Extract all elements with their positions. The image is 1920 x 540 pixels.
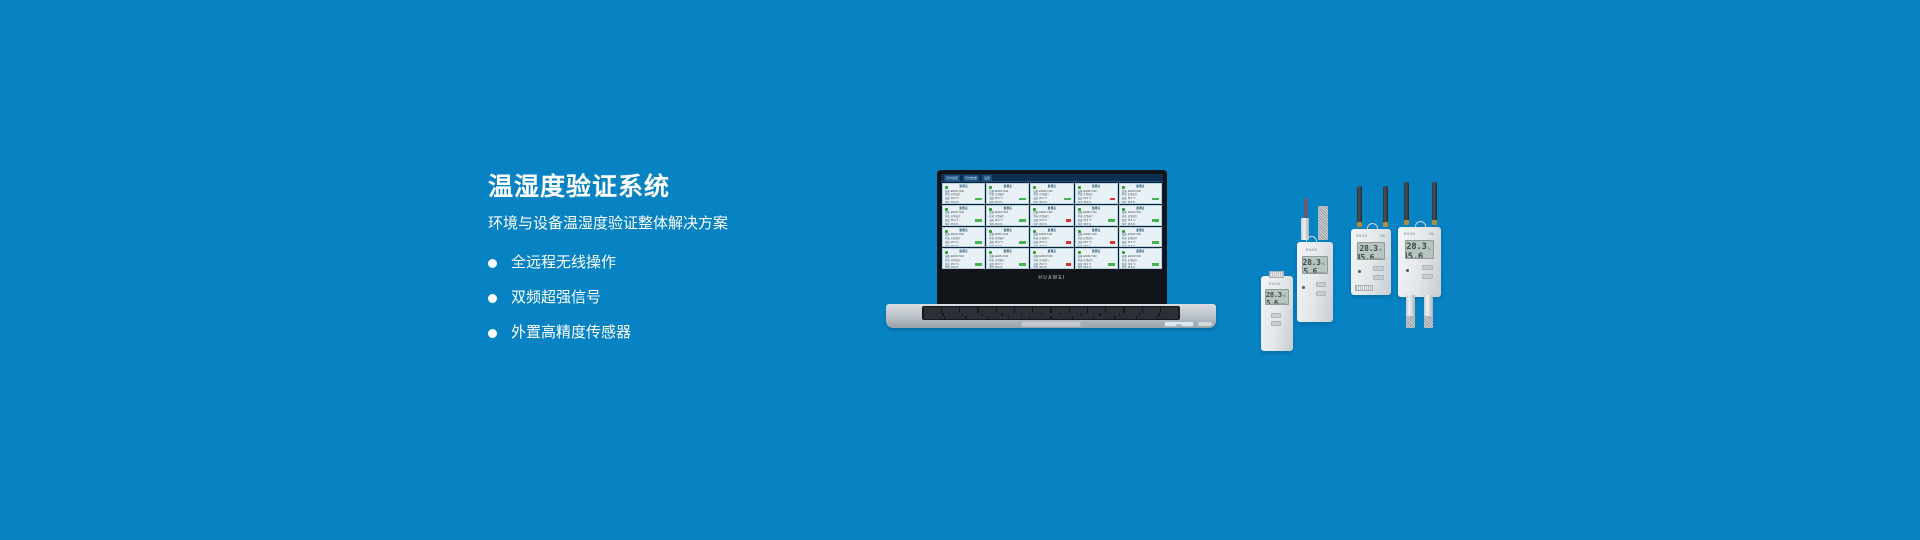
card-row-value: 45.6 % xyxy=(1128,201,1159,204)
sensor-vent-icon xyxy=(1269,271,1284,278)
status-badge xyxy=(975,241,982,244)
card-row: 温度25.3 ℃ xyxy=(1078,263,1115,266)
card-title: 监测点 xyxy=(1078,250,1115,254)
card-row: 设备ENON-T100 xyxy=(1078,211,1115,214)
card-row: 状态正常运行 xyxy=(1122,259,1159,262)
card-row-value: 25.3 ℃ xyxy=(995,263,1018,266)
card-row: 温度25.3 ℃ xyxy=(989,241,1026,244)
card-row-value: 正常运行 xyxy=(995,215,1026,218)
card-row: 状态正常运行 xyxy=(1033,237,1070,240)
card-row: 设备ENON-T100 xyxy=(989,211,1026,214)
card-row: 状态正常运行 xyxy=(989,215,1026,218)
temperature-unit: ℃ xyxy=(1428,247,1431,252)
card-title: 监测点 xyxy=(1078,207,1115,211)
probe-cable xyxy=(1305,198,1307,220)
card-row: 设备ENON-T100 xyxy=(1033,211,1070,214)
temperature-unit: ℃ xyxy=(1322,262,1325,267)
card-row-key: 温度 xyxy=(1078,241,1083,244)
list-item: 双频超强信号 xyxy=(488,289,818,307)
card-row-value: 正常运行 xyxy=(951,193,982,196)
card-row-value: 正常运行 xyxy=(1039,259,1070,262)
card-row-key: 状态 xyxy=(1122,259,1127,262)
card-row-value: ENON-T100 xyxy=(1083,233,1114,236)
card-row-value: 25.3 ℃ xyxy=(1083,241,1108,244)
card-row: 湿度45.6 % xyxy=(1122,223,1159,226)
card-row-key: 湿度 xyxy=(945,245,950,248)
card-title: 监测点 xyxy=(945,185,982,189)
card-row: 温度25.3 ℃ xyxy=(1122,219,1159,222)
card-row-value: 25.3 ℃ xyxy=(951,197,974,200)
card-row-value: 45.6 % xyxy=(1128,223,1159,226)
bullet-icon xyxy=(488,259,497,268)
card-row: 湿度45.6 % xyxy=(989,245,1026,248)
dashboard-topbar: 实时监控 历史数据 设置 xyxy=(941,174,1163,182)
card-row-value: 45.6 % xyxy=(1128,245,1159,248)
card-row-value: 正常运行 xyxy=(951,215,982,218)
card-row: 设备ENON-T100 xyxy=(945,211,982,214)
status-badge xyxy=(1019,219,1026,222)
card-row: 状态正常运行 xyxy=(1078,193,1115,196)
card-status-dot-icon xyxy=(1033,208,1036,211)
card-row-value: ENON-T100 xyxy=(1039,255,1070,258)
card-row-value: ENON-T100 xyxy=(1128,190,1159,193)
card-row: 湿度45.6 % xyxy=(1033,201,1070,204)
card-row: 设备ENON-T100 xyxy=(945,255,982,258)
card-row-key: 设备 xyxy=(1122,233,1127,236)
card-row-value: 45.6 % xyxy=(951,201,982,204)
dashboard-card[interactable]: 监测点设备ENON-T100状态正常运行温度25.3 ℃湿度45.6 %时间12… xyxy=(942,183,985,204)
card-title: 监测点 xyxy=(989,229,1026,233)
card-row-value: 正常运行 xyxy=(1128,237,1159,240)
status-badge xyxy=(1152,241,1159,244)
card-row-value: ENON-T100 xyxy=(1083,255,1114,258)
card-row-value: 正常运行 xyxy=(995,237,1026,240)
card-row-value: ENON-T100 xyxy=(1128,255,1159,258)
card-row-value: 25.3 ℃ xyxy=(995,241,1018,244)
card-status-dot-icon xyxy=(945,186,948,189)
card-row-key: 设备 xyxy=(1078,233,1083,236)
card-row: 状态正常运行 xyxy=(1078,215,1115,218)
card-row-key: 温度 xyxy=(1122,241,1127,244)
hero-banner: 温湿度验证系统 环境与设备温湿度验证整体解决方案 全远程无线操作 双频超强信号 … xyxy=(0,0,1920,540)
card-row-key: 温度 xyxy=(945,241,950,244)
feature-label: 外置高精度传感器 xyxy=(511,324,631,342)
status-badge xyxy=(975,198,982,201)
card-row-value: 25.3 ℃ xyxy=(1083,263,1106,266)
card-row-value: ENON-T100 xyxy=(1128,211,1159,214)
dashboard-card[interactable]: 监测点设备ENON-T100状态正常运行温度25.3 ℃湿度45.6 %时间12… xyxy=(986,248,1029,269)
card-row: 湿度45.6 % xyxy=(1122,201,1159,204)
card-row: 设备ENON-T100 xyxy=(945,190,982,193)
dashboard-card[interactable]: 监测点设备ENON-T100状态正常运行温度25.3 ℃湿度45.6 %时间12… xyxy=(1119,205,1162,226)
card-title: 监测点 xyxy=(1033,185,1070,189)
temperature-unit: ℃ xyxy=(1379,248,1382,253)
card-row-value: ENON-T100 xyxy=(951,211,982,214)
card-row-value: ENON-T100 xyxy=(995,211,1026,214)
humidity-value: 45.6 xyxy=(1265,299,1278,305)
card-row-key: 设备 xyxy=(989,233,994,236)
card-row-value: 45.6 % xyxy=(995,201,1026,204)
card-title: 监测点 xyxy=(945,250,982,254)
card-row-value: 25.3 ℃ xyxy=(1039,241,1064,244)
bullet-icon xyxy=(488,294,497,303)
card-row-value: ENON-T100 xyxy=(951,255,982,258)
card-row: 湿度45.6 % xyxy=(945,201,982,204)
antenna-icon xyxy=(1404,182,1409,222)
card-row: 温度25.3 ℃ xyxy=(1122,197,1159,200)
status-led-icon xyxy=(1358,270,1361,273)
card-row-value: 正常运行 xyxy=(1083,193,1114,196)
device-brand-label: ENON xyxy=(1356,234,1367,238)
card-row: 设备ENON-T100 xyxy=(989,255,1026,258)
card-row-key: 状态 xyxy=(945,259,950,262)
card-row-key: 温度 xyxy=(1078,219,1083,222)
antenna-connector xyxy=(1383,222,1388,227)
status-badge xyxy=(975,263,982,266)
card-status-dot-icon xyxy=(1078,208,1081,211)
card-row: 设备ENON-T100 xyxy=(1033,190,1070,193)
card-row-value: 25.3 ℃ xyxy=(995,219,1018,222)
card-row: 湿度45.6 % xyxy=(1078,201,1115,204)
card-row-key: 湿度 xyxy=(945,201,950,204)
feature-list: 全远程无线操作 双频超强信号 外置高精度传感器 xyxy=(488,254,818,342)
device-button-up[interactable] xyxy=(1373,266,1384,271)
card-row-value: 正常运行 xyxy=(1039,237,1070,240)
card-title: 监测点 xyxy=(1033,250,1070,254)
antenna-icon xyxy=(1357,186,1362,224)
humidity-probe-icon xyxy=(1318,206,1328,240)
temperature-probe-icon xyxy=(1406,316,1415,328)
card-row-value: 45.6 % xyxy=(995,223,1026,226)
card-row-key: 湿度 xyxy=(989,223,994,226)
status-badge xyxy=(1064,198,1071,201)
card-row-key: 状态 xyxy=(989,237,994,240)
card-row-value: 45.6 % xyxy=(951,245,982,248)
card-title: 监测点 xyxy=(1033,229,1070,233)
card-row-value: 正常运行 xyxy=(1128,259,1159,262)
card-row: 温度25.3 ℃ xyxy=(1078,197,1115,200)
card-row: 湿度45.6 % xyxy=(989,223,1026,226)
temperature-value: 28.3 xyxy=(1303,258,1321,267)
card-row: 温度25.3 ℃ xyxy=(1122,263,1159,266)
card-row-value: ENON-T100 xyxy=(1039,190,1070,193)
device-button-down[interactable] xyxy=(1271,321,1281,326)
laptop-product-image: 实时监控 历史数据 设置 监测点设备ENON-T100状态正常运行温度25.3 … xyxy=(886,170,1216,330)
card-row: 状态正常运行 xyxy=(989,193,1026,196)
card-title: 监测点 xyxy=(1122,207,1159,211)
page-subtitle: 环境与设备温湿度验证整体解决方案 xyxy=(488,214,818,234)
card-row-value: 正常运行 xyxy=(1128,215,1159,218)
card-row-key: 状态 xyxy=(1078,259,1083,262)
card-row-key: 湿度 xyxy=(989,245,994,248)
temperature-unit: ℃ xyxy=(1283,294,1286,299)
laptop-brand-label: HUAWEI xyxy=(1038,275,1065,281)
card-row: 状态正常运行 xyxy=(1033,193,1070,196)
feature-label: 全远程无线操作 xyxy=(511,254,616,272)
card-row: 状态正常运行 xyxy=(945,215,982,218)
laptop-sticker-secondary xyxy=(1198,322,1212,326)
card-status-dot-icon xyxy=(1078,230,1081,233)
card-row-key: 温度 xyxy=(1033,241,1038,244)
card-row-key: 设备 xyxy=(1033,255,1038,258)
card-status-dot-icon xyxy=(945,251,948,254)
card-row-key: 设备 xyxy=(1078,255,1083,258)
card-row: 温度25.3 ℃ xyxy=(989,263,1026,266)
humidity-probe-icon xyxy=(1424,316,1433,328)
card-row-value: 正常运行 xyxy=(951,237,982,240)
card-row-value: 正常运行 xyxy=(995,193,1026,196)
card-row-value: 正常运行 xyxy=(1039,215,1070,218)
status-badge xyxy=(1019,198,1026,201)
temperature-value: 28.3 xyxy=(1360,244,1378,253)
dashboard-card[interactable]: 监测点设备ENON-T100状态正常运行温度25.3 ℃湿度45.6 %时间12… xyxy=(942,227,985,248)
card-row: 设备ENON-T100 xyxy=(1078,255,1115,258)
dashboard-card[interactable]: 监测点设备ENON-T100状态正常运行温度25.3 ℃湿度45.6 %时间12… xyxy=(1075,227,1118,248)
card-row-key: 湿度 xyxy=(1078,223,1083,226)
card-row-value: 正常运行 xyxy=(1083,237,1114,240)
status-badge xyxy=(1066,263,1071,266)
status-badge xyxy=(1152,263,1159,266)
antenna-connector xyxy=(1404,220,1409,225)
card-row-key: 湿度 xyxy=(1033,201,1038,204)
card-row: 设备ENON-T100 xyxy=(1033,233,1070,236)
device-button-up[interactable] xyxy=(1316,282,1326,287)
card-row: 设备ENON-T100 xyxy=(1122,233,1159,236)
card-title: 监测点 xyxy=(989,185,1026,189)
device-compact-logger: ENON 28.3 ℃ 45.6 %RH xyxy=(1261,276,1293,351)
card-row-value: ENON-T100 xyxy=(951,190,982,193)
device-model-label: H8 xyxy=(1380,234,1385,238)
card-row-value: ENON-T100 xyxy=(995,255,1026,258)
device-button-up[interactable] xyxy=(1422,265,1433,270)
card-row: 温度25.3 ℃ xyxy=(1033,241,1070,244)
device-button-down[interactable] xyxy=(1316,291,1326,296)
dashboard-card[interactable]: 监测点设备ENON-T100状态正常运行温度25.3 ℃湿度45.6 %时间12… xyxy=(1075,183,1118,204)
dashboard-card[interactable]: 监测点设备ENON-T100状态正常运行温度25.3 ℃湿度45.6 %时间12… xyxy=(1030,248,1073,269)
card-row-value: ENON-T100 xyxy=(1083,211,1114,214)
card-row-value: 45.6 % xyxy=(1039,223,1070,226)
device-lcd-display: 28.3 ℃ 45.6 %RH xyxy=(1357,242,1385,260)
temperature-value: 28.3 xyxy=(1266,291,1282,299)
card-row-key: 湿度 xyxy=(1033,245,1038,248)
dashboard-menu-item[interactable]: 实时监控 xyxy=(944,175,960,181)
card-row-key: 状态 xyxy=(945,237,950,240)
humidity-value: 45.6 xyxy=(1405,252,1423,259)
status-badge xyxy=(1152,219,1159,222)
antenna-icon xyxy=(1383,186,1388,224)
card-row-value: ENON-T100 xyxy=(995,190,1026,193)
card-row-key: 温度 xyxy=(1033,219,1038,222)
card-row: 状态正常运行 xyxy=(945,193,982,196)
humidity-value: 45.6 xyxy=(1302,267,1317,274)
status-badge xyxy=(1110,198,1115,201)
card-row: 状态正常运行 xyxy=(989,237,1026,240)
card-row-value: 25.3 ℃ xyxy=(1083,219,1106,222)
card-row: 设备ENON-T100 xyxy=(945,233,982,236)
status-badge xyxy=(1108,263,1115,266)
card-row-key: 设备 xyxy=(1122,255,1127,258)
card-row-key: 设备 xyxy=(1033,233,1038,236)
status-led-icon xyxy=(1302,286,1305,289)
card-row: 状态正常运行 xyxy=(1078,237,1115,240)
card-row: 湿度45.6 % xyxy=(1122,245,1159,248)
card-status-dot-icon xyxy=(989,230,992,233)
card-row-value: 45.6 % xyxy=(1083,201,1114,204)
device-button-up[interactable] xyxy=(1271,313,1281,318)
card-row-value: 25.3 ℃ xyxy=(1039,219,1064,222)
card-row: 状态正常运行 xyxy=(1122,215,1159,218)
card-row-key: 设备 xyxy=(989,255,994,258)
dashboard-card[interactable]: 监测点设备ENON-T100状态正常运行温度25.3 ℃湿度45.6 %时间12… xyxy=(1030,183,1073,204)
card-status-dot-icon xyxy=(945,208,948,211)
card-row-value: 正常运行 xyxy=(1128,193,1159,196)
card-row: 湿度45.6 % xyxy=(1078,223,1115,226)
device-model-label: H8 xyxy=(1429,232,1434,236)
dashboard-card[interactable]: 监测点设备ENON-T100状态正常运行温度25.3 ℃湿度45.6 %时间12… xyxy=(942,205,985,226)
dashboard-card[interactable]: 监测点设备ENON-T100状态正常运行温度25.3 ℃湿度45.6 %时间12… xyxy=(986,183,1029,204)
status-badge xyxy=(1066,241,1071,244)
dashboard-card[interactable]: 监测点设备ENON-T100状态正常运行温度25.3 ℃湿度45.6 %时间12… xyxy=(1119,227,1162,248)
card-row: 设备ENON-T100 xyxy=(1122,211,1159,214)
card-row-value: ENON-T100 xyxy=(1039,233,1070,236)
card-status-dot-icon xyxy=(1122,186,1125,189)
card-row: 设备ENON-T100 xyxy=(1033,255,1070,258)
dashboard-card[interactable]: 监测点设备ENON-T100状态正常运行温度25.3 ℃湿度45.6 %时间12… xyxy=(986,227,1029,248)
card-title: 监测点 xyxy=(1122,185,1159,189)
card-row-value: 25.3 ℃ xyxy=(1128,197,1151,200)
card-row-value: 25.3 ℃ xyxy=(1039,197,1062,200)
card-title: 监测点 xyxy=(1078,229,1115,233)
card-row-value: ENON-T100 xyxy=(1128,233,1159,236)
laptop-keyboard[interactable] xyxy=(922,306,1180,320)
list-item: 外置高精度传感器 xyxy=(488,324,818,342)
dashboard-menu-item[interactable]: 历史数据 xyxy=(963,175,979,181)
card-row-value: ENON-T100 xyxy=(1039,211,1070,214)
card-row-value: 正常运行 xyxy=(1083,259,1114,262)
card-row-value: ENON-T100 xyxy=(951,233,982,236)
card-row-value: 45.6 % xyxy=(995,245,1026,248)
card-status-dot-icon xyxy=(989,186,992,189)
card-row-value: 45.6 % xyxy=(1083,245,1114,248)
card-title: 监测点 xyxy=(989,250,1026,254)
device-brand-label: ENON xyxy=(1269,282,1280,286)
card-row: 湿度45.6 % xyxy=(989,201,1026,204)
card-row-value: 25.3 ℃ xyxy=(951,241,974,244)
dashboard-card[interactable]: 监测点设备ENON-T100状态正常运行温度25.3 ℃湿度45.6 %时间12… xyxy=(1119,248,1162,269)
card-title: 监测点 xyxy=(989,207,1026,211)
device-button-down[interactable] xyxy=(1373,275,1384,280)
device-wireless-logger-left: ENON H8 28.3 ℃ 45.6 %RH xyxy=(1351,229,1391,295)
card-row: 设备ENON-T100 xyxy=(989,233,1026,236)
card-row: 湿度45.6 % xyxy=(945,245,982,248)
status-badge xyxy=(1066,219,1071,222)
humidity-value: 45.6 xyxy=(1357,253,1374,260)
dashboard-card[interactable]: 监测点设备ENON-T100状态正常运行温度25.3 ℃湿度45.6 %时间12… xyxy=(1119,183,1162,204)
card-row-value: 25.3 ℃ xyxy=(1128,219,1151,222)
status-badge xyxy=(1019,263,1026,266)
dashboard-card-grid: 监测点设备ENON-T100状态正常运行温度25.3 ℃湿度45.6 %时间12… xyxy=(941,182,1163,270)
card-row-key: 湿度 xyxy=(1033,223,1038,226)
card-row-value: 45.6 % xyxy=(1039,201,1070,204)
card-row-key: 状态 xyxy=(1078,237,1083,240)
card-row-value: 45.6 % xyxy=(1083,223,1114,226)
card-row: 温度25.3 ℃ xyxy=(989,197,1026,200)
device-wireless-logger-right: ENON H8 28.3 ℃ 45.6 %RH xyxy=(1398,227,1441,297)
card-row-value: 正常运行 xyxy=(1083,215,1114,218)
card-row-key: 湿度 xyxy=(1078,245,1083,248)
card-status-dot-icon xyxy=(945,230,948,233)
humidity-unit: %RH xyxy=(1424,257,1431,259)
card-row: 状态正常运行 xyxy=(989,259,1026,262)
dashboard-card[interactable]: 监测点设备ENON-T100状态正常运行温度25.3 ℃湿度45.6 %时间12… xyxy=(1030,227,1073,248)
device-brand-label: ENON xyxy=(1404,232,1415,236)
card-row: 状态正常运行 xyxy=(945,237,982,240)
card-row-key: 温度 xyxy=(1122,219,1127,222)
dashboard-card[interactable]: 监测点设备ENON-T100状态正常运行温度25.3 ℃湿度45.6 %时间12… xyxy=(1075,248,1118,269)
card-row: 状态正常运行 xyxy=(1033,259,1070,262)
card-title: 监测点 xyxy=(1078,185,1115,189)
card-row: 湿度45.6 % xyxy=(945,223,982,226)
card-row: 温度25.3 ℃ xyxy=(945,263,982,266)
card-row-key: 状态 xyxy=(1033,237,1038,240)
humidity-unit: %RH xyxy=(1279,302,1286,305)
card-row-key: 湿度 xyxy=(1122,245,1127,248)
dashboard-card[interactable]: 监测点设备ENON-T100状态正常运行温度25.3 ℃湿度45.6 %时间12… xyxy=(1075,205,1118,226)
laptop-trackpad[interactable] xyxy=(1021,321,1081,327)
device-brand-label: ENON xyxy=(1306,248,1317,252)
dashboard-card[interactable]: 监测点设备ENON-T100状态正常运行温度25.3 ℃湿度45.6 %时间12… xyxy=(942,248,985,269)
card-row-key: 湿度 xyxy=(945,223,950,226)
status-led-icon xyxy=(1406,269,1409,272)
card-row: 设备ENON-T100 xyxy=(1078,233,1115,236)
card-row: 温度25.3 ℃ xyxy=(1078,219,1115,222)
card-row-value: 正常运行 xyxy=(951,259,982,262)
humidity-unit: %RH xyxy=(1318,271,1325,274)
card-row: 温度25.3 ℃ xyxy=(945,197,982,200)
card-status-dot-icon xyxy=(1122,208,1125,211)
card-row: 温度25.3 ℃ xyxy=(1078,241,1115,244)
device-lcd-display: 28.3 ℃ 45.6 %RH xyxy=(1302,256,1328,274)
card-row-value: ENON-T100 xyxy=(1083,190,1114,193)
card-row-value: 25.3 ℃ xyxy=(1083,197,1108,200)
card-row-value: 25.3 ℃ xyxy=(1128,263,1151,266)
card-row-key: 设备 xyxy=(945,233,950,236)
dashboard-menu-item[interactable]: 设置 xyxy=(982,175,992,181)
card-title: 监测点 xyxy=(1122,250,1159,254)
card-title: 监测点 xyxy=(1122,229,1159,233)
card-row-key: 状态 xyxy=(1122,237,1127,240)
dashboard-card[interactable]: 监测点设备ENON-T100状态正常运行温度25.3 ℃湿度45.6 %时间12… xyxy=(986,205,1029,226)
card-row: 状态正常运行 xyxy=(1122,237,1159,240)
card-row-value: 正常运行 xyxy=(995,259,1026,262)
card-row: 温度25.3 ℃ xyxy=(1033,219,1070,222)
list-item: 全远程无线操作 xyxy=(488,254,818,272)
card-row-value: 正常运行 xyxy=(1039,193,1070,196)
card-row: 湿度45.6 % xyxy=(1033,245,1070,248)
antenna-icon xyxy=(1432,182,1437,222)
card-status-dot-icon xyxy=(1033,230,1036,233)
card-title: 监测点 xyxy=(945,229,982,233)
card-status-dot-icon xyxy=(1122,230,1125,233)
device-probe-logger: ENON 28.3 ℃ 45.6 %RH xyxy=(1297,242,1333,322)
laptop-base: Intel xyxy=(886,304,1216,328)
device-button-down[interactable] xyxy=(1422,274,1433,279)
hero-text-block: 温湿度验证系统 环境与设备温湿度验证整体解决方案 全远程无线操作 双频超强信号 … xyxy=(488,172,818,359)
status-badge xyxy=(1019,241,1026,244)
card-row: 温度25.3 ℃ xyxy=(1033,197,1070,200)
dashboard-card[interactable]: 监测点设备ENON-T100状态正常运行温度25.3 ℃湿度45.6 %时间12… xyxy=(1030,205,1073,226)
card-row-key: 湿度 xyxy=(1122,201,1127,204)
